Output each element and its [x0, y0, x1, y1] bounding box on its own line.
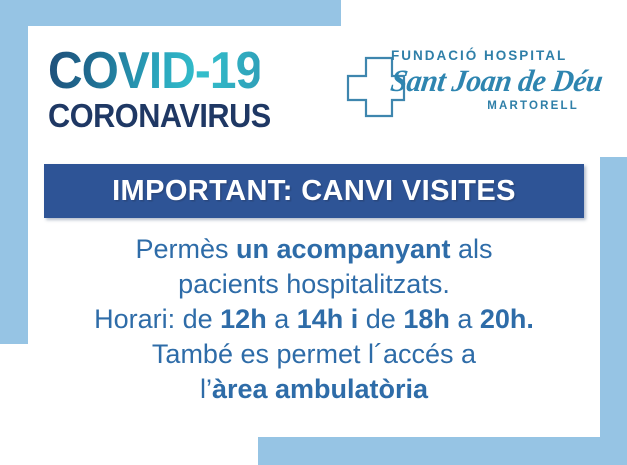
message-line: Horari: de 12h a 14h i de 18h a 20h.	[34, 302, 594, 337]
message-emphasis: 12h	[220, 304, 267, 334]
important-banner: IMPORTANT: CANVI VISITES	[44, 164, 584, 218]
message-text: l’	[200, 374, 212, 404]
message-emphasis: un acompanyant	[236, 234, 451, 264]
hospital-logo: FUNDACIÓ HOSPITAL Sant Joan de Déu MARTO…	[346, 48, 586, 140]
decorative-bar-bottom	[258, 437, 627, 465]
covid-title: COVID-19	[48, 46, 260, 97]
message-emphasis: 18h	[403, 304, 450, 334]
message-text: Horari: de	[94, 304, 220, 334]
message-emphasis: àrea ambulatòria	[212, 374, 428, 404]
message-line: l’àrea ambulatòria	[34, 372, 594, 407]
decorative-bar-left	[0, 26, 28, 344]
message-text: a	[450, 304, 480, 334]
message-emphasis: 14h	[297, 304, 344, 334]
message-text: als	[451, 234, 493, 264]
message-text: pacients hospitalitzats.	[178, 269, 450, 299]
message-line: També es permet l´accés a	[34, 337, 594, 372]
hospital-logo-text: FUNDACIÓ HOSPITAL Sant Joan de Déu MARTO…	[391, 48, 591, 112]
covid-visiting-hours-poster: COVID-19 CORONAVIRUS FUNDACIÓ HOSPITAL S…	[0, 0, 627, 465]
decorative-bar-top	[0, 0, 341, 26]
message-text: Permès	[135, 234, 236, 264]
message-line: Permès un acompanyant als	[34, 232, 594, 267]
logo-city-line: MARTORELL	[391, 100, 579, 112]
poster-content-card: COVID-19 CORONAVIRUS FUNDACIÓ HOSPITAL S…	[28, 26, 600, 437]
visiting-rules-message: Permès un acompanyant alspacients hospit…	[34, 232, 594, 407]
logo-script-name: Sant Joan de Déu	[388, 63, 585, 99]
message-text: a	[267, 304, 297, 334]
logo-foundation-line: FUNDACIÓ HOSPITAL	[391, 48, 591, 63]
message-line: pacients hospitalitzats.	[34, 267, 594, 302]
important-banner-text: IMPORTANT: CANVI VISITES	[112, 175, 516, 208]
coronavirus-subtitle: CORONAVIRUS	[48, 99, 262, 132]
message-emphasis: i	[343, 304, 358, 334]
poster-header: COVID-19 CORONAVIRUS FUNDACIÓ HOSPITAL S…	[28, 26, 600, 154]
covid-wordmark: COVID-19 CORONAVIRUS	[48, 46, 278, 132]
message-emphasis: 20h.	[480, 304, 534, 334]
decorative-bar-right	[600, 157, 627, 465]
message-text: També es permet l´accés a	[152, 339, 476, 369]
message-text: de	[358, 304, 403, 334]
